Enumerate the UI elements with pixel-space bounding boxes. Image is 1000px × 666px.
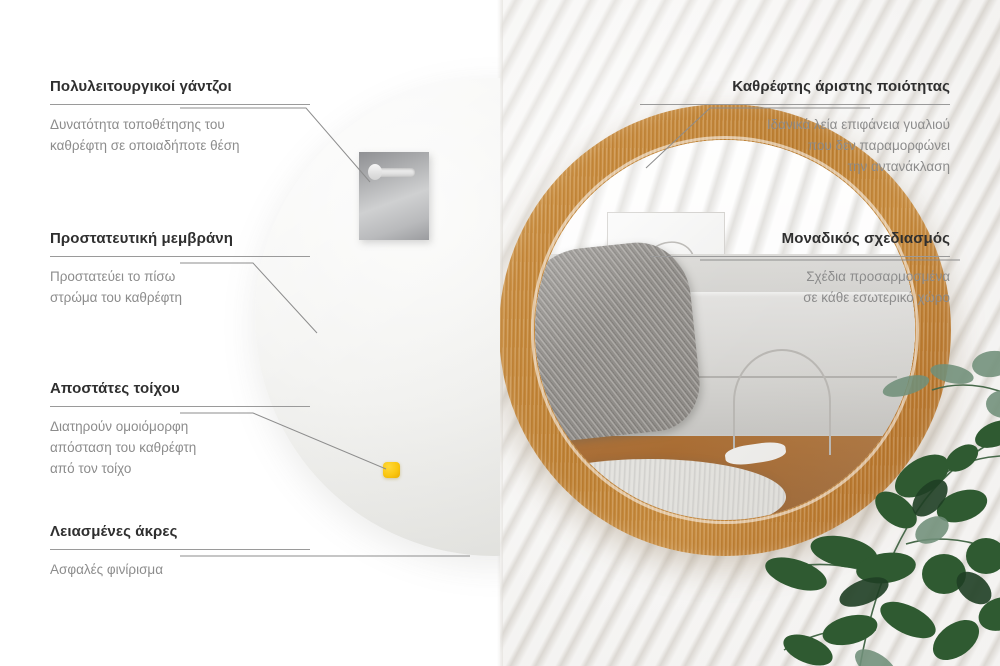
callout-rule	[50, 549, 310, 550]
callout-unique-design: Μοναδικός σχεδιασμός Σχέδια προσαρμοσμέν…	[650, 230, 950, 309]
hanging-hook-plate	[359, 152, 429, 240]
wall-spacer	[383, 462, 400, 478]
callout-smoothed-edges: Λειασμένες άκρες Ασφαλές φινίρισμα	[50, 523, 310, 581]
hook-keyhole-slot	[371, 168, 415, 177]
callout-multifunctional-hooks: Πολυλειτουργικοί γάντζοι Δυνατότητα τοπο…	[50, 78, 310, 157]
callout-description: Ασφαλές φινίρισμα	[50, 560, 310, 581]
callout-title: Προστατευτική μεμβράνη	[50, 230, 310, 247]
callout-title: Καθρέφτης άριστης ποιότητας	[640, 78, 950, 95]
infographic-canvas: Πολυλειτουργικοί γάντζοι Δυνατότητα τοπο…	[0, 0, 1000, 666]
callout-rule	[50, 104, 310, 105]
callout-description: Προστατεύει το πίσω στρώμα του καθρέφτη	[50, 267, 310, 309]
callout-wall-spacers: Αποστάτες τοίχου Διατηρούν ομοιόμορφη απ…	[50, 380, 310, 480]
callout-description: Σχέδια προσαρμοσμένα σε κάθε εσωτερικό χ…	[650, 267, 950, 309]
callout-title: Λειασμένες άκρες	[50, 523, 310, 540]
mirror-reflection-living-room	[535, 140, 915, 520]
callout-description: Ιδανικά λεία επιφάνεια γυαλιού που δεν π…	[640, 115, 950, 178]
callout-description: Διατηρούν ομοιόμορφη απόσταση του καθρέφ…	[50, 417, 310, 480]
callout-rule	[640, 104, 950, 105]
callout-top-quality-mirror: Καθρέφτης άριστης ποιότητας Ιδανικά λεία…	[640, 78, 950, 178]
reflected-arc-lamp	[733, 349, 832, 455]
callout-rule	[650, 256, 950, 257]
callout-title: Μοναδικός σχεδιασμός	[650, 230, 950, 247]
callout-title: Αποστάτες τοίχου	[50, 380, 310, 397]
callout-rule	[50, 406, 310, 407]
callout-title: Πολυλειτουργικοί γάντζοι	[50, 78, 310, 95]
callout-description: Δυνατότητα τοποθέτησης του καθρέφτη σε ο…	[50, 115, 310, 157]
callout-protective-membrane: Προστατευτική μεμβράνη Προστατεύει το πί…	[50, 230, 310, 309]
callout-rule	[50, 256, 310, 257]
